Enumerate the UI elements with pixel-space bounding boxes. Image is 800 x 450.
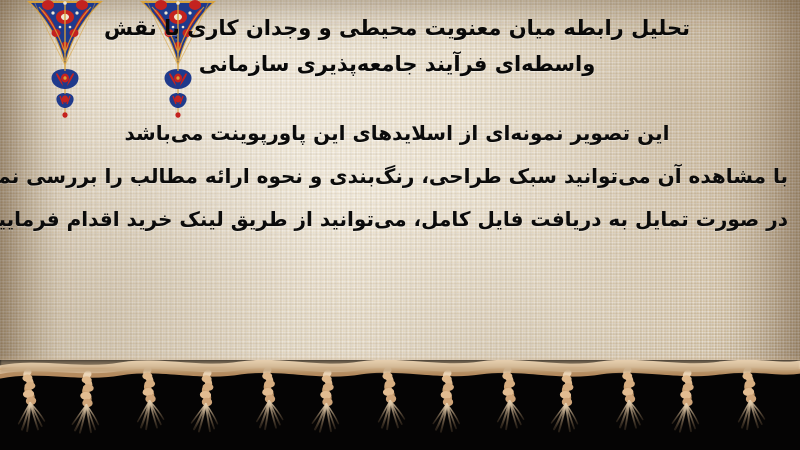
slide-title: تحلیل رابطه میان معنویت محیطی و وجدان کا… — [12, 10, 782, 82]
title-line-2: واسطه‌ای فرآیند جامعه‌پذیری سازمانی — [12, 46, 782, 82]
carpet-fringe — [0, 360, 800, 450]
body-line-3: در صورت تمایل به دریافت فایل کامل، می‌تو… — [6, 198, 788, 241]
presentation-slide: تحلیل رابطه میان معنویت محیطی و وجدان کا… — [0, 0, 800, 450]
fringe-tassel-group — [15, 369, 765, 434]
title-line-1: تحلیل رابطه میان معنویت محیطی و وجدان کا… — [12, 10, 782, 46]
body-line-1: این تصویر نمونه‌ای از اسلایدهای این پاور… — [6, 112, 788, 155]
fringe-top-edge-blend — [0, 356, 800, 372]
slide-body: این تصویر نمونه‌ای از اسلایدهای این پاور… — [6, 112, 788, 241]
body-line-2: با مشاهده آن می‌توانید سبک طراحی، رنگ‌بن… — [6, 155, 788, 198]
